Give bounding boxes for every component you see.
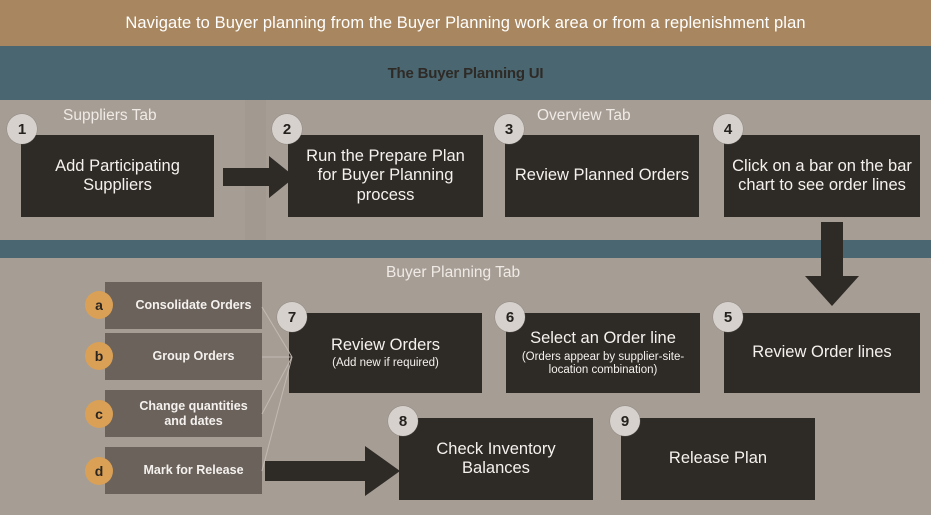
substep-box-b-label: Group Orders	[153, 349, 235, 364]
step-bubble-4: 4	[713, 114, 743, 144]
arrow-step1-to-step2	[223, 156, 295, 198]
step-box-5-text: Review Order lines	[752, 343, 891, 362]
step-box-3-text: Review Planned Orders	[515, 166, 689, 185]
step-box-9-text: Release Plan	[669, 449, 767, 468]
step-bubble-7: 7	[277, 302, 307, 332]
step-box-2-text: Run the Prepare Plan for Buyer Planning …	[296, 147, 475, 205]
step-bubble-6: 6	[495, 302, 525, 332]
substep-circle-d: d	[85, 457, 113, 485]
step-box-8-text: Check Inventory Balances	[407, 440, 585, 479]
step-box-7[interactable]: Review Orders (Add new if required)	[289, 313, 482, 393]
ui-title-text: The Buyer Planning UI	[388, 65, 544, 82]
substep-circle-b: b	[85, 342, 113, 370]
step-box-6-text: Select an Order line	[530, 329, 676, 348]
step-box-8[interactable]: Check Inventory Balances	[399, 418, 593, 500]
substep-circle-a: a	[85, 291, 113, 319]
step-box-6[interactable]: Select an Order line (Orders appear by s…	[506, 313, 700, 393]
panel-suppliers-label: Suppliers Tab	[63, 107, 157, 125]
step-box-1-text: Add Participating Suppliers	[29, 157, 206, 196]
substep-box-a-label: Consolidate Orders	[136, 298, 252, 313]
diagram-canvas: Navigate to Buyer planning from the Buye…	[0, 0, 931, 515]
step-bubble-8: 8	[388, 406, 418, 436]
step-box-3[interactable]: Review Planned Orders	[505, 135, 699, 217]
step-box-4[interactable]: Click on a bar on the bar chart to see o…	[724, 135, 920, 217]
step-box-9[interactable]: Release Plan	[621, 418, 815, 500]
row-separator-band	[0, 240, 931, 258]
panel-buyer-label: Buyer Planning Tab	[386, 264, 520, 282]
step-bubble-2: 2	[272, 114, 302, 144]
step-box-6-subtext: (Orders appear by supplier-site-location…	[514, 351, 692, 377]
substep-box-d-label: Mark for Release	[143, 463, 243, 478]
substep-box-d[interactable]: Mark for Release	[105, 447, 262, 494]
substep-box-a[interactable]: Consolidate Orders	[105, 282, 262, 329]
arrow-substeps-to-step8	[265, 446, 400, 496]
header-banner-text: Navigate to Buyer planning from the Buye…	[125, 14, 805, 33]
substep-box-b[interactable]: Group Orders	[105, 333, 262, 380]
step-bubble-3: 3	[494, 114, 524, 144]
step-bubble-1: 1	[7, 114, 37, 144]
header-banner: Navigate to Buyer planning from the Buye…	[0, 0, 931, 46]
panel-overview-label: Overview Tab	[537, 107, 631, 125]
step-box-7-subtext: (Add new if required)	[332, 357, 439, 370]
step-box-2[interactable]: Run the Prepare Plan for Buyer Planning …	[288, 135, 483, 217]
step-box-1[interactable]: Add Participating Suppliers	[21, 135, 214, 217]
step-box-7-text: Review Orders	[331, 336, 440, 355]
ui-title-band: The Buyer Planning UI	[0, 46, 931, 100]
step-box-4-text: Click on a bar on the bar chart to see o…	[732, 157, 912, 196]
arrow-step4-to-step5	[805, 222, 859, 306]
substep-box-c[interactable]: Change quantities and dates	[105, 390, 262, 437]
step-box-5[interactable]: Review Order lines	[724, 313, 920, 393]
step-bubble-5: 5	[713, 302, 743, 332]
step-bubble-9: 9	[610, 406, 640, 436]
substep-circle-c: c	[85, 400, 113, 428]
substep-box-c-label: Change quantities and dates	[131, 399, 256, 429]
